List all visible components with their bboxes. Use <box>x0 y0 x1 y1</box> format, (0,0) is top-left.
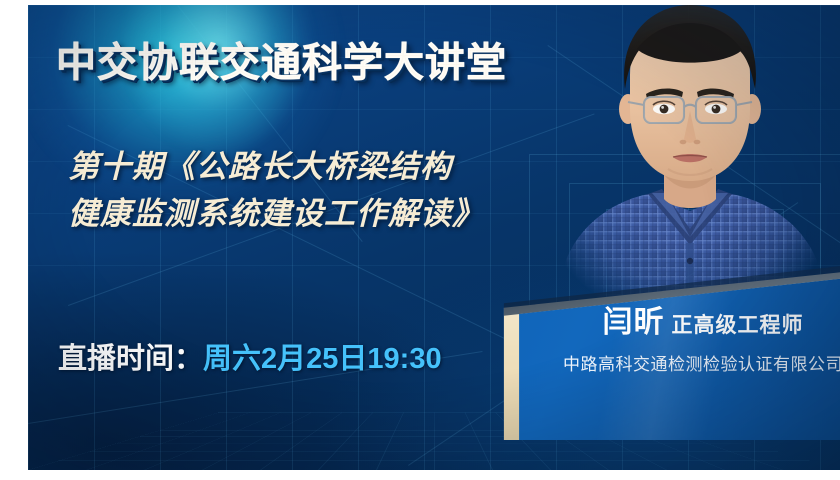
speaker-portrait-photo <box>540 5 840 297</box>
speaker-info-panel: 闫昕正高级工程师 中路高科交通检测检验认证有限公司 <box>483 260 840 440</box>
poster-canvas: 中交协联交通科学大讲堂 第十期《公路长大桥梁结构 健康监测系统建设工作解读》 直… <box>28 5 840 470</box>
speaker-text-block: 闫昕正高级工程师 中路高科交通检测检验认证有限公司 <box>543 308 840 375</box>
live-time-value: 周六2月25日19:30 <box>203 343 442 375</box>
speaker-job-title: 正高级工程师 <box>672 314 804 337</box>
subtitle-line-1: 第十期《公路长大桥梁结构 <box>68 143 484 190</box>
speaker-name-row: 闫昕正高级工程师 <box>543 308 840 338</box>
page-title: 中交协联交通科学大讲堂 <box>56 30 507 88</box>
speaker-name: 闫昕 <box>603 306 665 339</box>
speaker-organization: 中路高科交通检测检验认证有限公司 <box>543 350 840 375</box>
live-time-row: 直播时间：周六2月25日19:30 <box>58 335 442 377</box>
live-time-label: 直播时间： <box>58 343 203 375</box>
subtitle-line-2: 健康监测系统建设工作解读》 <box>68 190 484 237</box>
lecture-subtitle: 第十期《公路长大桥梁结构 健康监测系统建设工作解读》 <box>68 143 484 237</box>
